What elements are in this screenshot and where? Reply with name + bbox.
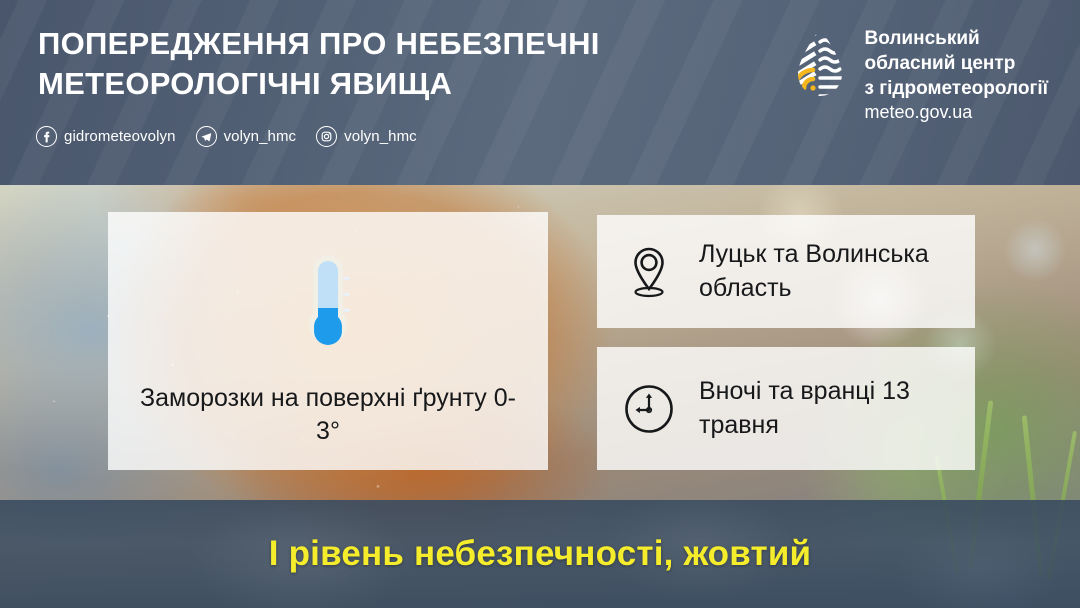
- logo-line-1: Волинський: [865, 28, 980, 49]
- header-band: ПОПЕРЕДЖЕННЯ ПРО НЕБЕЗПЕЧНІ МЕТЕОРОЛОГІЧ…: [0, 0, 1080, 185]
- organization-logo[interactable]: Волинський обласний центр з гідрометеоро…: [789, 26, 1049, 125]
- social-handle-facebook: gidrometeovolyn: [64, 128, 176, 145]
- location-text: Луцьк та Волинська область: [699, 238, 975, 305]
- facebook-icon: [36, 126, 57, 147]
- social-handle-instagram: volyn_hmc: [344, 128, 417, 145]
- location-card: Луцьк та Волинська область: [597, 215, 975, 328]
- water-droplet-logo-icon: [789, 26, 851, 106]
- logo-line-3: з гідрометеорології: [865, 78, 1049, 99]
- thermometer-icon: [297, 252, 359, 360]
- danger-level-band: І рівень небезпечності, жовтий: [0, 500, 1080, 608]
- map-pin-icon: [623, 244, 675, 300]
- social-links: gidrometeovolyn volyn_hmc: [36, 126, 417, 147]
- logo-website[interactable]: meteo.gov.ua: [865, 102, 973, 122]
- instagram-icon: [316, 126, 337, 147]
- logo-text: Волинський обласний центр з гідрометеоро…: [865, 26, 1049, 125]
- social-link-instagram[interactable]: volyn_hmc: [316, 126, 417, 147]
- page-title: ПОПЕРЕДЖЕННЯ ПРО НЕБЕЗПЕЧНІ МЕТЕОРОЛОГІЧ…: [38, 24, 678, 103]
- time-card: Вночі та вранці 13 травня: [597, 347, 975, 470]
- telegram-icon: [196, 126, 217, 147]
- warning-card: Заморозки на поверхні ґрунту 0-3°: [108, 212, 548, 470]
- social-link-facebook[interactable]: gidrometeovolyn: [36, 126, 176, 147]
- social-link-telegram[interactable]: volyn_hmc: [196, 126, 297, 147]
- weather-warning-poster: ПОПЕРЕДЖЕННЯ ПРО НЕБЕЗПЕЧНІ МЕТЕОРОЛОГІЧ…: [0, 0, 1080, 608]
- danger-level-text: І рівень небезпечності, жовтий: [269, 534, 812, 574]
- time-text: Вночі та вранці 13 травня: [699, 375, 975, 442]
- clock-icon: [623, 381, 675, 437]
- logo-line-2: обласний центр: [865, 53, 1016, 74]
- warning-text: Заморозки на поверхні ґрунту 0-3°: [108, 382, 548, 448]
- social-handle-telegram: volyn_hmc: [224, 128, 297, 145]
